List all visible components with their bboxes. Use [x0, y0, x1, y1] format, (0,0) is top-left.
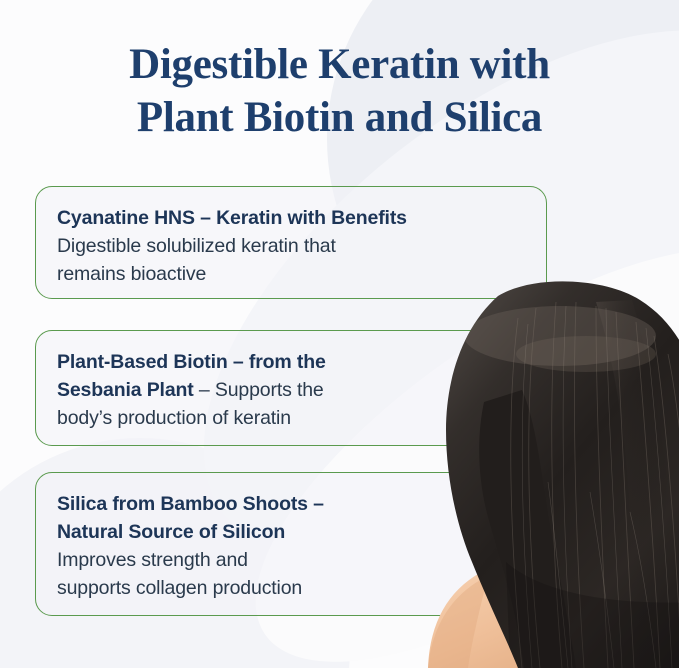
benefit-card-2-body: Plant-Based Biotin – from the Sesbania P… — [36, 331, 546, 447]
benefit-card-1-body: Cyanatine HNS – Keratin with Benefits Di… — [36, 187, 546, 303]
benefit-card-2-heading-line-2: Sesbania Plant — [57, 379, 194, 401]
benefit-card-1[interactable]: Cyanatine HNS – Keratin with Benefits Di… — [35, 186, 547, 299]
benefit-card-2-body-line-1: – Supports the — [194, 379, 324, 401]
benefit-card-3-heading-line-2: Natural Source of Silicon — [57, 521, 285, 543]
benefit-card-3-body-line-1: Improves strength and — [57, 549, 248, 571]
benefit-card-3-text: Silica from Bamboo Shoots – Natural Sour… — [57, 490, 526, 602]
benefit-card-2-heading-line-1: Plant-Based Biotin – from the — [57, 351, 326, 373]
benefit-card-3[interactable]: Silica from Bamboo Shoots – Natural Sour… — [35, 472, 547, 616]
eyelash-detail — [506, 446, 514, 457]
benefit-card-1-heading: Cyanatine HNS – Keratin with Benefits — [57, 207, 407, 229]
promo-graphic: Digestible Keratin with Plant Biotin and… — [0, 0, 679, 668]
benefit-card-3-body: Silica from Bamboo Shoots – Natural Sour… — [36, 473, 546, 617]
benefit-card-2-text: Plant-Based Biotin – from the Sesbania P… — [57, 348, 526, 432]
page-title-line-2: Plant Biotin and Silica — [0, 91, 679, 144]
page-title-line-1: Digestible Keratin with — [0, 38, 679, 91]
benefit-card-1-body-line-2: remains bioactive — [57, 263, 206, 285]
page-title: Digestible Keratin with Plant Biotin and… — [0, 38, 679, 144]
benefit-card-2-body-line-2: body’s production of keratin — [57, 407, 291, 429]
benefit-card-1-body-line-1: Digestible solubilized keratin that — [57, 235, 336, 257]
benefit-card-2[interactable]: Plant-Based Biotin – from the Sesbania P… — [35, 330, 547, 446]
benefit-card-3-heading-line-1: Silica from Bamboo Shoots – — [57, 493, 324, 515]
benefit-card-1-text: Cyanatine HNS – Keratin with Benefits Di… — [57, 204, 526, 288]
benefit-card-3-body-line-2: supports collagen production — [57, 577, 302, 599]
